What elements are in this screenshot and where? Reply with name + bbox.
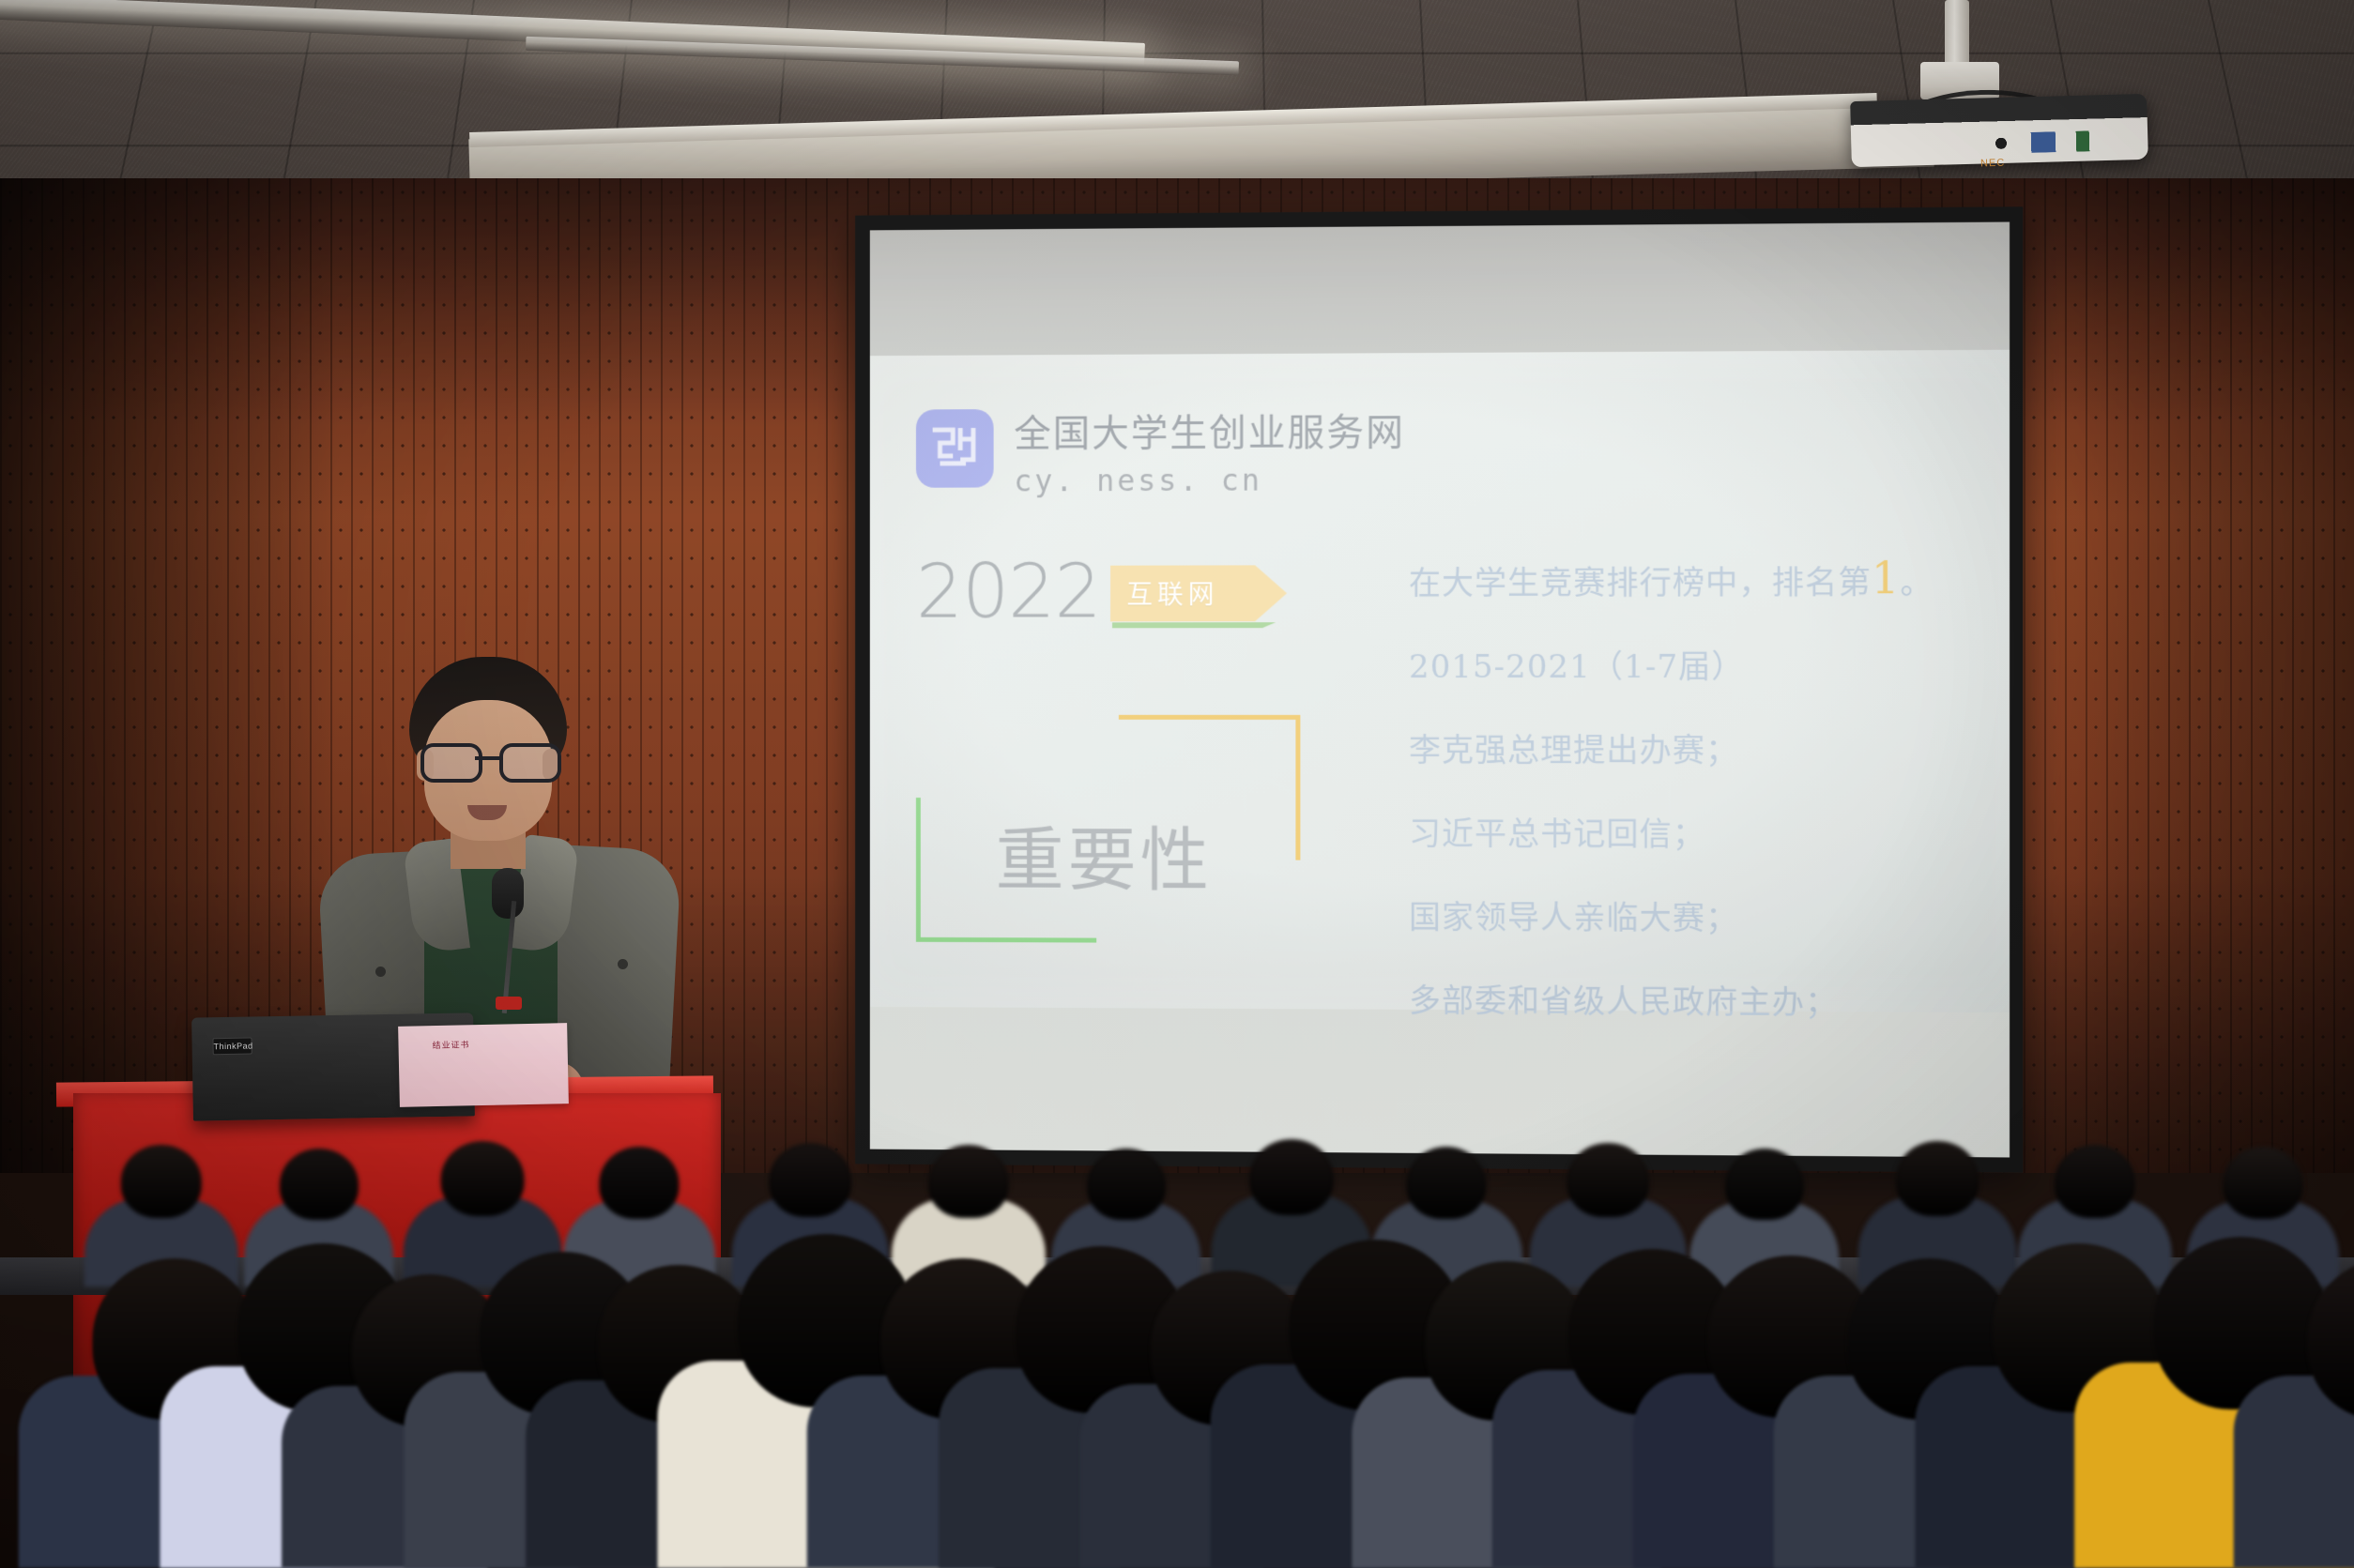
audience-member-head xyxy=(441,1141,525,1217)
importance-block: 重要性 xyxy=(916,715,1381,950)
microphone-icon xyxy=(492,868,524,919)
audience-member-head xyxy=(1406,1147,1486,1220)
section-title: 重要性 xyxy=(996,804,1213,905)
cy-ness-logo-icon xyxy=(916,409,994,488)
bullet-line: 2015-2021（1-7届） xyxy=(1409,641,1976,687)
audience xyxy=(0,1013,2354,1568)
audience-member-head xyxy=(2223,1147,2302,1220)
bullet-line: 国家领导人亲临大赛； xyxy=(1409,891,1976,939)
site-name: 全国大学生创业服务网 xyxy=(1014,411,1405,456)
badge-shape: 互联网 xyxy=(1110,565,1287,621)
badge-underline xyxy=(1112,622,1276,628)
audience-member-head xyxy=(769,1143,851,1218)
badge-label: 互联网 xyxy=(1110,574,1219,612)
projector-ports xyxy=(1990,129,2141,154)
slide-header-text: 全国大学生创业服务网 cy. ness. cn xyxy=(1014,407,1405,498)
audience-member-head xyxy=(599,1147,679,1220)
audience-member xyxy=(2234,1258,2354,1568)
lecture-hall-scene: NEC xyxy=(0,0,2354,1568)
glasses-lens-right xyxy=(499,743,561,783)
projected-slide: 全国大学生创业服务网 cy. ness. cn 2022 互联网 xyxy=(870,350,2010,1013)
jacket-button xyxy=(618,959,628,969)
audience-member-head xyxy=(280,1149,359,1220)
audience-member-head xyxy=(121,1145,202,1219)
year-row: 2022 互联网 xyxy=(916,554,1381,629)
bullet-line: 李克强总理提出办赛； xyxy=(1409,724,1976,771)
slide-header: 全国大学生创业服务网 cy. ness. cn xyxy=(916,404,1977,498)
glasses-lens-left xyxy=(420,743,482,783)
audience-member-head xyxy=(928,1145,1009,1219)
audience-member-head xyxy=(1567,1143,1649,1218)
audience-member-head xyxy=(1725,1149,1804,1220)
audience-member-head xyxy=(2055,1145,2135,1219)
site-url: cy. ness. cn xyxy=(1014,462,1405,498)
year-label: 2022 xyxy=(916,555,1101,630)
slide-body: 2022 互联网 重要性 xyxy=(916,553,1977,1062)
glasses-bridge xyxy=(475,756,501,760)
microphone-base xyxy=(496,997,522,1010)
bullet-text: 在大学生竞赛排行榜中，排名第 xyxy=(1409,564,1872,602)
slide-left-column: 2022 互联网 重要性 xyxy=(916,554,1381,1058)
audience-member-head xyxy=(1249,1139,1334,1216)
internet-plus-badge: 互联网 xyxy=(1110,565,1287,621)
slide-right-column: 在大学生竞赛排行榜中，排名第1。 2015-2021（1-7届） 李克强总理提出… xyxy=(1381,553,1976,1062)
projector-brand-label: NEC xyxy=(1980,158,2006,170)
jacket-button xyxy=(375,967,386,977)
audience-member-head xyxy=(1896,1141,1979,1217)
audience-member-head xyxy=(1087,1149,1166,1220)
glasses-icon xyxy=(419,743,559,775)
bullet-line: 在大学生竞赛排行榜中，排名第1。 xyxy=(1409,556,1976,603)
rank-number: 1 xyxy=(1872,553,1901,603)
bullet-suffix: 。 xyxy=(1901,564,1934,601)
bullet-line: 习近平总书记回信； xyxy=(1409,808,1976,856)
